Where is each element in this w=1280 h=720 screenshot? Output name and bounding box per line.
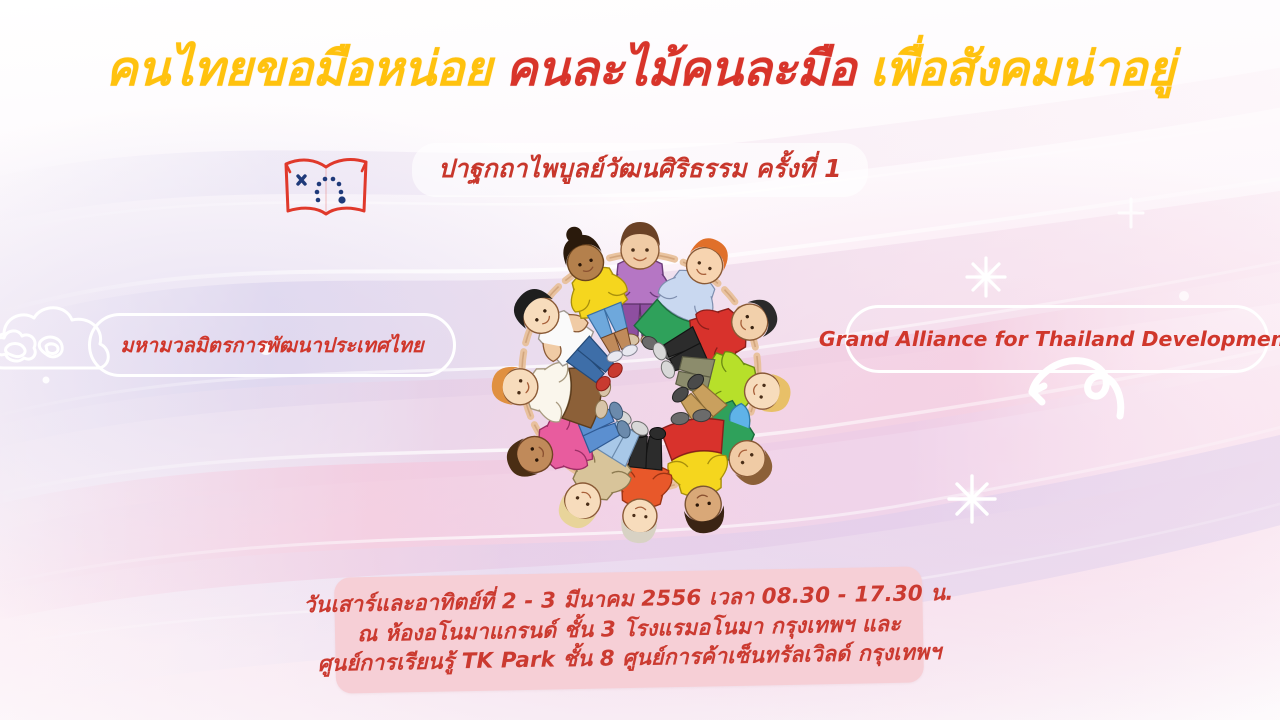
- title-segment-1: คนไทยขอมือหน่อย: [106, 41, 492, 97]
- badge-english-alliance: Grand Alliance for Thailand Development: [845, 305, 1269, 373]
- title-segment-3: เพื่อสังคมน่าอยู่: [870, 41, 1175, 97]
- event-details-box: วันเสาร์และอาทิตย์ที่ 2 - 3 มีนาคม 2556 …: [334, 566, 924, 693]
- poster-canvas: คนไทยขอมือหน่อยคนละไม้คนละมือเพื่อสังคมน…: [0, 0, 1280, 720]
- badge-left-label: มหามวลมิตรการพัฒนาประเทศไทย: [120, 329, 423, 361]
- circle-of-children-illustration: [438, 186, 842, 556]
- page-title: คนไทยขอมือหน่อยคนละไม้คนละมือเพื่อสังคมน…: [0, 44, 1280, 94]
- badge-thai-alliance: มหามวลมิตรการพัฒนาประเทศไทย: [88, 313, 456, 377]
- badge-right-label: Grand Alliance for Thailand Development: [819, 327, 1280, 351]
- title-segment-2: คนละไม้คนละมือ: [505, 41, 855, 97]
